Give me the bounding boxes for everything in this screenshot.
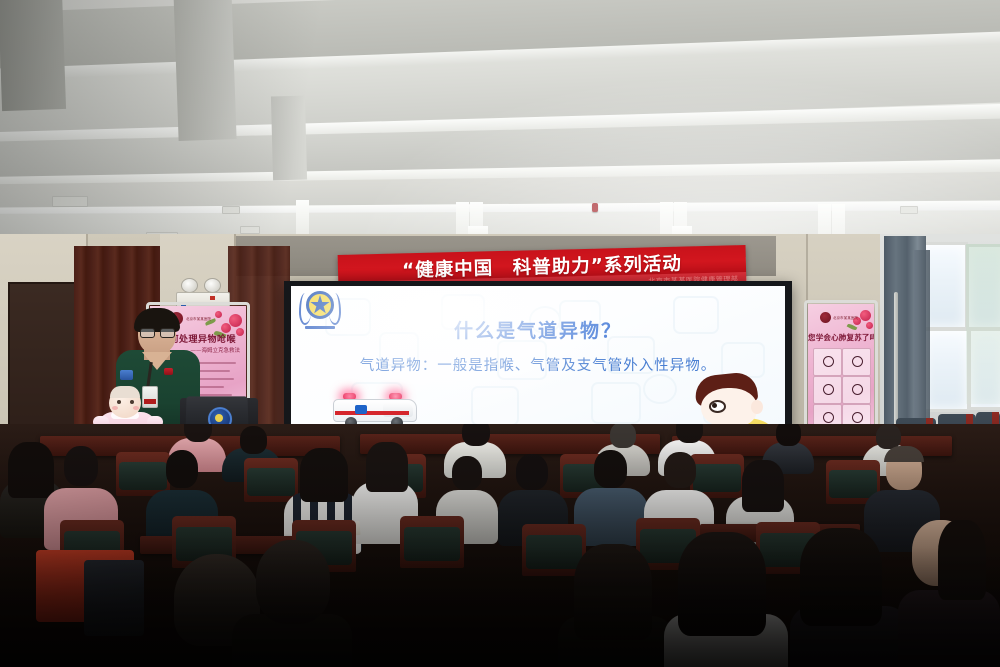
audience-area — [0, 424, 1000, 667]
shoulder-patch — [120, 370, 133, 380]
glasses-icon — [140, 328, 174, 336]
lecture-hall-photo: “健康中国 科普助力”系列活动 北京市某某医院健康管理部 — [0, 0, 1000, 667]
poster-right-frame — [804, 300, 878, 440]
screen-glare — [291, 286, 785, 429]
ceiling-shadow — [0, 0, 420, 243]
window-foliage-view — [966, 244, 1000, 404]
foreground-vignette — [0, 547, 1000, 667]
projection-screen: 什么是气道异物？ 气道异物：一般是指喉、气管及支气管外入性异物。 — [291, 286, 785, 429]
coffered-ceiling — [0, 0, 1000, 243]
lapel-pin — [164, 368, 173, 375]
